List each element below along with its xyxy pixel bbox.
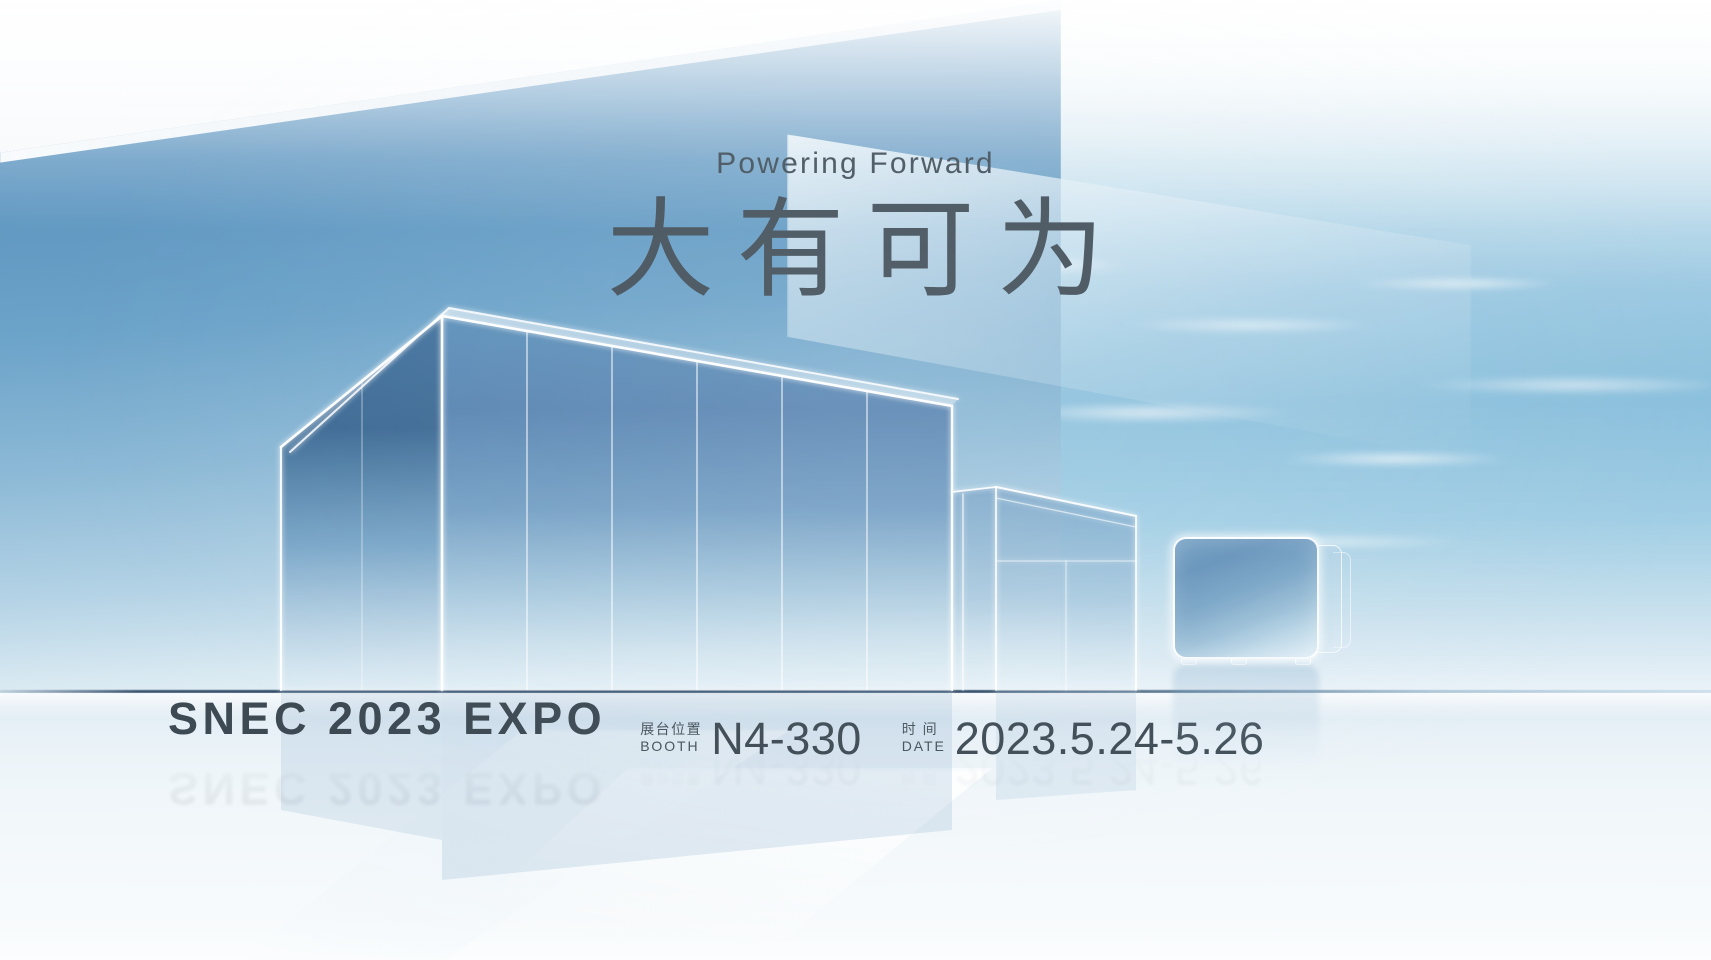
inverter-floor-reflection (1173, 665, 1319, 769)
date-label-cn: 时 间 (902, 721, 946, 738)
date-labels: 时 间 DATE (902, 721, 946, 757)
inverter-side-panel-near (1316, 545, 1342, 653)
booth-label-cn: 展台位置 (640, 721, 702, 738)
booth-value: N4-330 (711, 713, 862, 765)
date-label-en: DATE (902, 738, 946, 755)
booth-group: 展台位置 BOOTH N4-330 (640, 713, 862, 765)
solar-inverter-unit (1173, 537, 1319, 659)
booth-label-en: BOOTH (640, 738, 702, 755)
headline-chinese: 大有可为 (0, 186, 1711, 313)
event-info-bar: SNEC 2023 EXPO 展台位置 BOOTH N4-330 时 间 DAT… (168, 693, 1264, 765)
poster-canvas: Powering Forward 大有可为 SNEC 2023 EXPO 展台位… (0, 0, 1711, 960)
booth-labels: 展台位置 BOOTH (640, 721, 702, 757)
inverter-feet (1177, 657, 1317, 665)
expo-title: SNEC 2023 EXPO (168, 693, 606, 745)
tagline: Powering Forward (0, 147, 1711, 181)
